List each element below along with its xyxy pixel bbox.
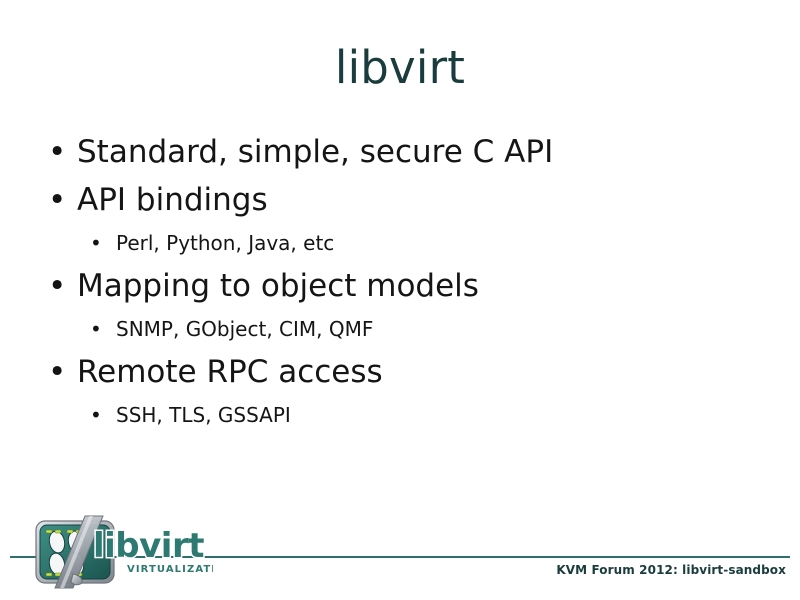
list-item-label: Mapping to object models bbox=[77, 265, 760, 308]
bullet-marker-icon: • bbox=[90, 399, 116, 432]
list-item-label: API bindings bbox=[77, 179, 760, 222]
bullet-list: • Standard, simple, secure C API • API b… bbox=[48, 131, 760, 437]
list-item-label: SSH, TLS, GSSAPI bbox=[116, 399, 760, 432]
slide: libvirt • Standard, simple, secure C API… bbox=[0, 0, 800, 600]
list-item: • SSH, TLS, GSSAPI bbox=[48, 399, 760, 432]
bullet-marker-icon: • bbox=[90, 227, 116, 260]
bullet-marker-icon: • bbox=[48, 131, 77, 174]
list-item-label: Standard, simple, secure C API bbox=[77, 131, 760, 174]
bullet-marker-icon: • bbox=[90, 313, 116, 346]
list-item: • Perl, Python, Java, etc bbox=[48, 227, 760, 260]
libvirt-logo: libvirt VIRTUALIZATION API bbox=[33, 512, 213, 590]
footer-note: KVM Forum 2012: libvirt-sandbox bbox=[556, 563, 786, 577]
list-item-label: SNMP, GObject, CIM, QMF bbox=[116, 313, 760, 346]
list-item-label: Perl, Python, Java, etc bbox=[116, 227, 760, 260]
logo-tagline: VIRTUALIZATION API bbox=[127, 564, 213, 575]
bullet-marker-icon: • bbox=[48, 265, 77, 308]
list-item-label: Remote RPC access bbox=[77, 351, 760, 394]
list-item: • Mapping to object models bbox=[48, 265, 760, 308]
list-item: • Standard, simple, secure C API bbox=[48, 131, 760, 174]
page-title: libvirt bbox=[0, 42, 800, 94]
list-item: • SNMP, GObject, CIM, QMF bbox=[48, 313, 760, 346]
bullet-marker-icon: • bbox=[48, 179, 77, 222]
bullet-marker-icon: • bbox=[48, 351, 77, 394]
list-item: • Remote RPC access bbox=[48, 351, 760, 394]
logo-wordmark: libvirt bbox=[93, 526, 204, 566]
list-item: • API bindings bbox=[48, 179, 760, 222]
